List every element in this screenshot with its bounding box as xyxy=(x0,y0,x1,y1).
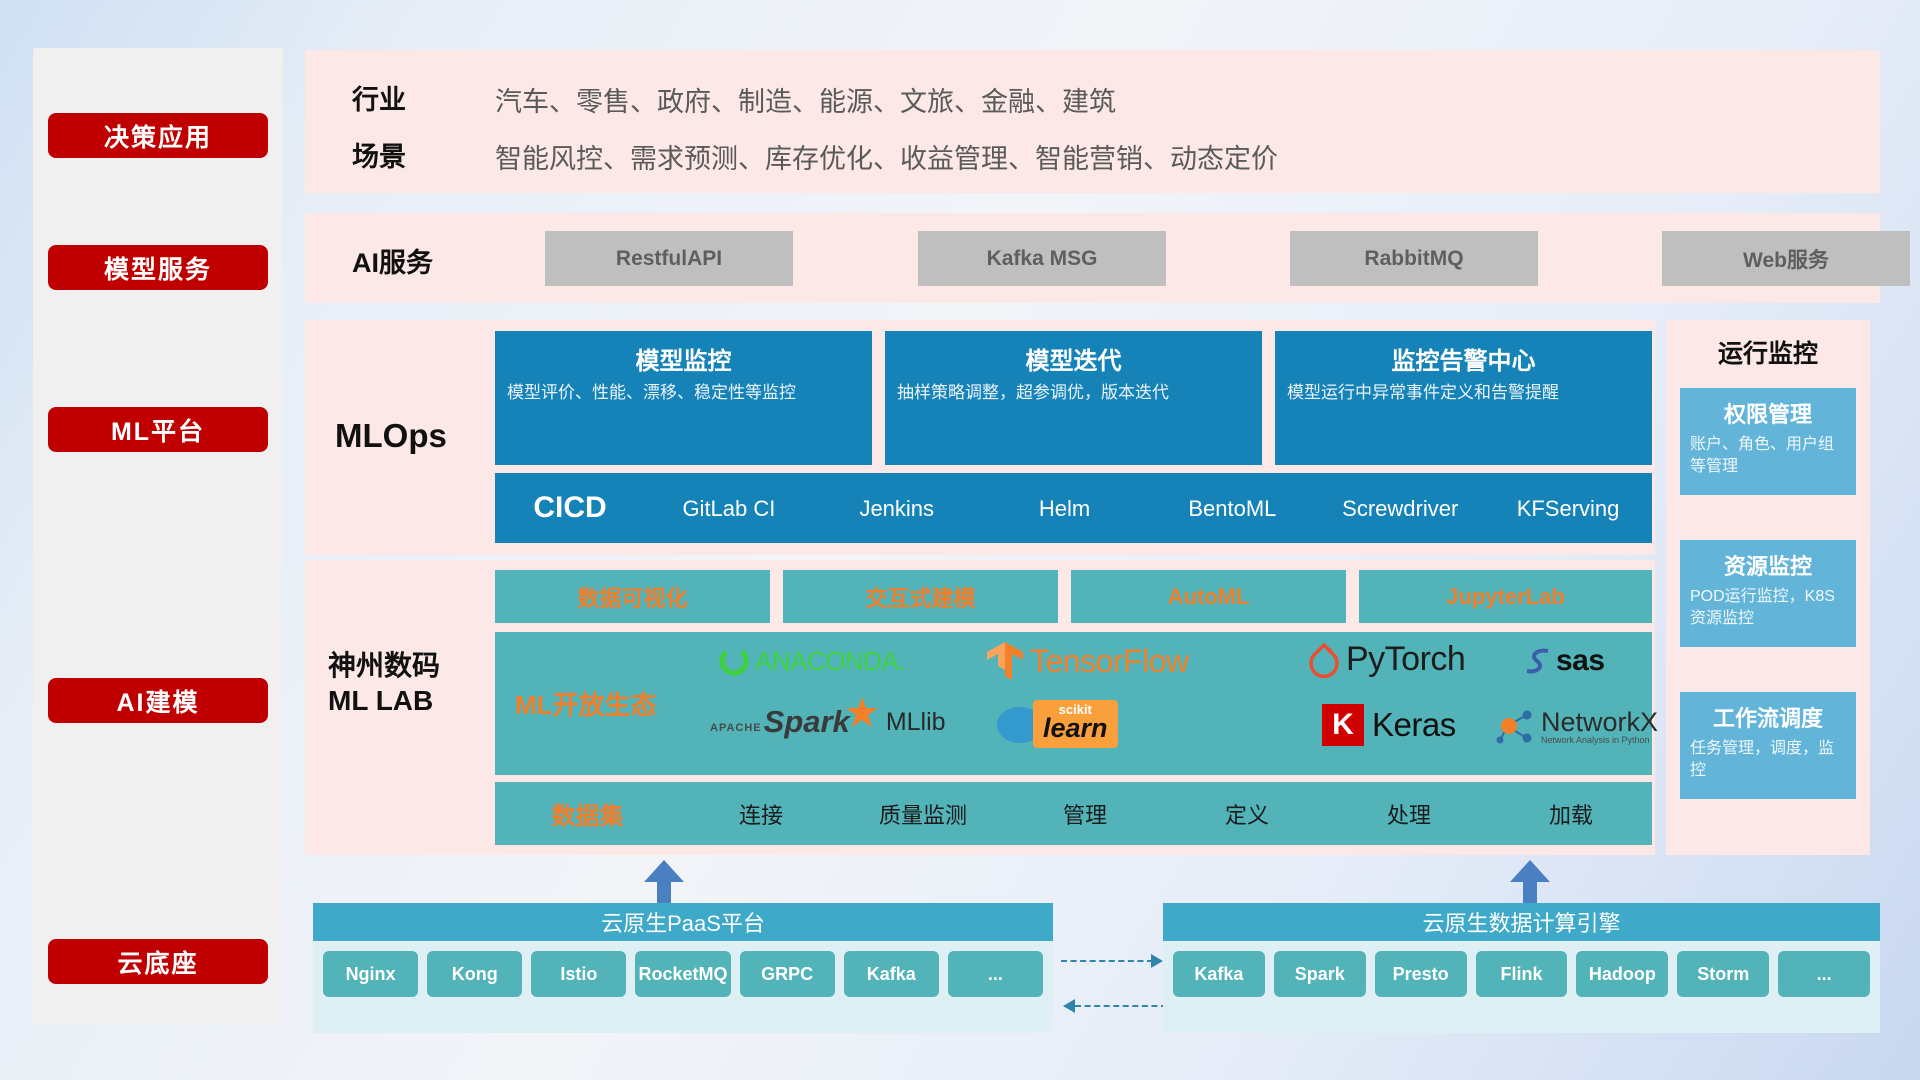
spark-logo-tag: APACHE xyxy=(710,722,762,734)
learn-logo-text: learn xyxy=(1043,713,1108,744)
engine-chip-more[interactable]: ... xyxy=(1778,951,1870,997)
ml-lab-label-line2: ML LAB xyxy=(328,683,440,718)
cloud-chip-more[interactable]: ... xyxy=(948,951,1043,997)
dataset-row: 数据集 连接 质量监测 管理 定义 处理 加载 xyxy=(495,782,1652,845)
industry-value: 汽车、零售、政府、制造、能源、文旅、金融、建筑 xyxy=(495,80,1116,119)
networkx-logo-text: NetworkX xyxy=(1541,707,1658,738)
ml-lab-label-line1: 神州数码 xyxy=(328,648,440,683)
cloud-chip-nginx[interactable]: Nginx xyxy=(323,951,418,997)
cloud-paas-chips: Nginx Kong Istio RocketMQ GRPC Kafka ... xyxy=(313,941,1053,1007)
spark-mllib-logo: APACHE Spark MLlib xyxy=(710,704,946,740)
mllib-logo-text: MLlib xyxy=(886,708,946,737)
anaconda-logo-text: ANACONDA. xyxy=(755,646,905,677)
dataset-item-manage[interactable]: 管理 xyxy=(1004,798,1166,830)
rail-item-ai-modeling[interactable]: AI建模 xyxy=(48,678,268,723)
cloud-data-engine-panel: 云原生数据计算引擎 Kafka Spark Presto Flink Hadoo… xyxy=(1163,903,1880,1033)
cloud-chip-rocketmq[interactable]: RocketMQ xyxy=(635,951,730,997)
ml-tool-data-visualization[interactable]: 数据可视化 xyxy=(495,570,770,623)
cicd-item-bentoml[interactable]: BentoML xyxy=(1148,495,1316,520)
dataset-item-define[interactable]: 定义 xyxy=(1166,798,1328,830)
card-title: 权限管理 xyxy=(1680,397,1856,429)
pytorch-logo: PyTorch xyxy=(1307,640,1465,679)
card-title: 监控告警中心 xyxy=(1275,341,1652,376)
ai-service-restfulapi[interactable]: RestfulAPI xyxy=(545,231,793,286)
rail-item-decision-app[interactable]: 决策应用 xyxy=(48,113,268,158)
cloud-paas-title: 云原生PaaS平台 xyxy=(313,903,1053,941)
card-desc: 模型运行中异常事件定义和告警提醒 xyxy=(1275,382,1652,405)
cicd-item-helm[interactable]: Helm xyxy=(981,495,1149,520)
card-title: 工作流调度 xyxy=(1680,701,1856,733)
cloud-chip-kafka[interactable]: Kafka xyxy=(844,951,939,997)
card-desc: 模型评价、性能、漂移、稳定性等监控 xyxy=(495,382,872,405)
monitor-card-resource[interactable]: 资源监控 POD运行监控，K8S资源监控 xyxy=(1680,540,1856,647)
networkx-logo: NetworkX Network Analysis in Python xyxy=(1495,706,1658,746)
mlops-card-model-iteration[interactable]: 模型迭代 抽样策略调整，超参调优，版本迭代 xyxy=(885,331,1262,465)
ml-eco-label: ML开放生态 xyxy=(515,685,657,722)
left-rail xyxy=(33,48,283,1023)
ai-service-web-service[interactable]: Web服务 xyxy=(1662,231,1910,286)
monitor-panel: 运行监控 权限管理 账户、角色、用户组等管理 资源监控 POD运行监控，K8S资… xyxy=(1666,320,1870,855)
cloud-data-engine-title: 云原生数据计算引擎 xyxy=(1163,903,1880,941)
engine-chip-storm[interactable]: Storm xyxy=(1677,951,1769,997)
cicd-item-screwdriver[interactable]: Screwdriver xyxy=(1316,495,1484,520)
spark-logo-text: Spark xyxy=(764,704,850,740)
cicd-label: CICD xyxy=(495,491,645,525)
rail-item-cloud-base[interactable]: 云底座 xyxy=(48,939,268,984)
ai-service-rabbitmq[interactable]: RabbitMQ xyxy=(1290,231,1538,286)
engine-chip-flink[interactable]: Flink xyxy=(1476,951,1568,997)
ml-lab-panel: 神州数码 ML LAB 数据可视化 交互式建模 AutoML JupyterLa… xyxy=(305,560,1655,855)
engine-chip-kafka[interactable]: Kafka xyxy=(1173,951,1265,997)
cloud-data-engine-chips: Kafka Spark Presto Flink Hadoop Storm ..… xyxy=(1163,941,1880,1007)
decision-app-panel: 行业 汽车、零售、政府、制造、能源、文旅、金融、建筑 场景 智能风控、需求预测、… xyxy=(305,50,1880,193)
ai-service-label: AI服务 xyxy=(352,241,433,280)
ml-lab-label: 神州数码 ML LAB xyxy=(328,648,440,718)
dataset-item-connect[interactable]: 连接 xyxy=(680,798,842,830)
card-desc: 任务管理，调度，监控 xyxy=(1680,738,1856,781)
mlops-panel: MLOps 模型监控 模型评价、性能、漂移、稳定性等监控 模型迭代 抽样策略调整… xyxy=(305,320,1655,555)
engine-chip-presto[interactable]: Presto xyxy=(1375,951,1467,997)
architecture-diagram: 决策应用 模型服务 ML平台 AI建模 云底座 行业 汽车、零售、政府、制造、能… xyxy=(0,0,1920,1080)
card-desc: 账户、角色、用户组等管理 xyxy=(1680,434,1856,477)
cicd-item-jenkins[interactable]: Jenkins xyxy=(813,495,981,520)
mlops-card-alert-center[interactable]: 监控告警中心 模型运行中异常事件定义和告警提醒 xyxy=(1275,331,1652,465)
cicd-item-kfserving[interactable]: KFServing xyxy=(1484,495,1652,520)
ml-tool-automl[interactable]: AutoML xyxy=(1071,570,1346,623)
tensorflow-logo: TensorFlow xyxy=(985,640,1189,682)
tensorflow-logo-text: TensorFlow xyxy=(1030,643,1189,680)
ai-service-kafka-msg[interactable]: Kafka MSG xyxy=(918,231,1166,286)
rail-item-ml-platform[interactable]: ML平台 xyxy=(48,407,268,452)
networkx-logo-sub: Network Analysis in Python xyxy=(1541,735,1658,745)
card-desc: POD运行监控，K8S资源监控 xyxy=(1680,586,1856,629)
engine-chip-spark[interactable]: Spark xyxy=(1274,951,1366,997)
sas-logo-text: sas xyxy=(1556,644,1605,678)
anaconda-logo: ANACONDA. xyxy=(717,644,905,678)
sas-logo: sas xyxy=(1522,644,1605,678)
ai-service-panel: AI服务 RestfulAPI Kafka MSG RabbitMQ Web服务 xyxy=(305,213,1880,303)
card-title: 模型迭代 xyxy=(885,341,1262,376)
cicd-item-gitlab-ci[interactable]: GitLab CI xyxy=(645,495,813,520)
card-title: 模型监控 xyxy=(495,341,872,376)
scenario-value: 智能风控、需求预测、库存优化、收益管理、智能营销、动态定价 xyxy=(495,137,1278,176)
ml-tool-jupyterlab[interactable]: JupyterLab xyxy=(1359,570,1652,623)
ml-tool-interactive-modeling[interactable]: 交互式建模 xyxy=(783,570,1058,623)
monitor-card-permission[interactable]: 权限管理 账户、角色、用户组等管理 xyxy=(1680,388,1856,495)
cloud-paas-panel: 云原生PaaS平台 Nginx Kong Istio RocketMQ GRPC… xyxy=(313,903,1053,1033)
scikit-learn-logo: scikit learn xyxy=(995,700,1118,748)
industry-label: 行业 xyxy=(352,78,406,117)
dataset-label: 数据集 xyxy=(495,796,680,831)
mlops-label: MLOps xyxy=(335,417,447,455)
dataset-item-process[interactable]: 处理 xyxy=(1328,798,1490,830)
ml-eco-band: ML开放生态 ANACONDA. TensorFlow xyxy=(495,632,1652,775)
dataset-item-quality[interactable]: 质量监测 xyxy=(842,798,1004,830)
card-desc: 抽样策略调整，超参调优，版本迭代 xyxy=(885,382,1262,405)
keras-logo-mark: K xyxy=(1322,704,1364,746)
keras-logo-text: Keras xyxy=(1372,706,1456,744)
cicd-row: CICD GitLab CI Jenkins Helm BentoML Scre… xyxy=(495,473,1652,543)
dataset-item-load[interactable]: 加载 xyxy=(1490,798,1652,830)
monitor-card-workflow[interactable]: 工作流调度 任务管理，调度，监控 xyxy=(1680,692,1856,799)
pytorch-logo-text: PyTorch xyxy=(1346,640,1465,679)
cloud-chip-grpc[interactable]: GRPC xyxy=(740,951,835,997)
card-title: 资源监控 xyxy=(1680,549,1856,581)
cloud-chip-istio[interactable]: Istio xyxy=(531,951,626,997)
scenario-label: 场景 xyxy=(352,135,406,174)
rail-item-model-service[interactable]: 模型服务 xyxy=(48,245,268,290)
cloud-chip-kong[interactable]: Kong xyxy=(427,951,522,997)
keras-logo: K Keras xyxy=(1322,704,1456,746)
monitor-title: 运行监控 xyxy=(1666,334,1870,370)
mlops-card-model-monitoring[interactable]: 模型监控 模型评价、性能、漂移、稳定性等监控 xyxy=(495,331,872,465)
engine-chip-hadoop[interactable]: Hadoop xyxy=(1576,951,1668,997)
